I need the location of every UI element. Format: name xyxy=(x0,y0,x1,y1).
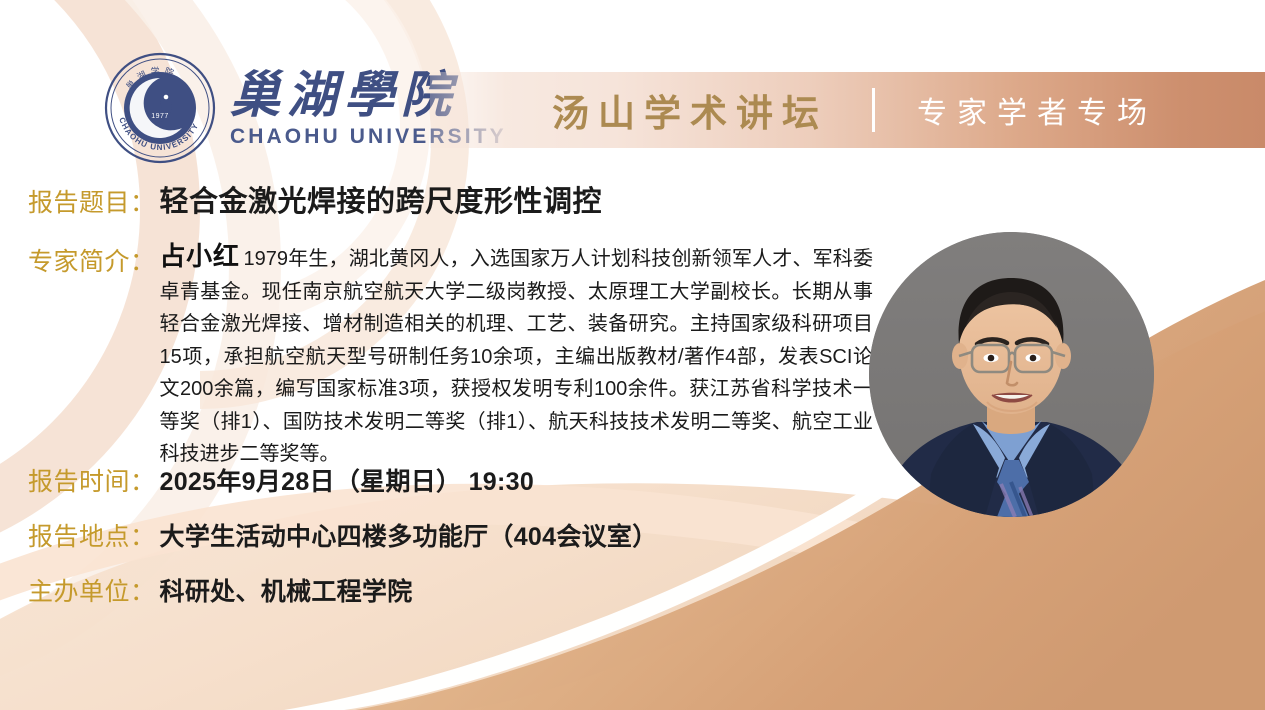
lecture-host-label: 主办单位： xyxy=(28,572,156,608)
speaker-bio-text: 1979年生，湖北黄冈人，入选国家万人计划科技创新领军人才、军科委卓青基金。现任… xyxy=(160,248,873,465)
lecture-host-row: 主办单位： 科研处、机械工程学院 xyxy=(28,572,413,608)
speaker-bio-row: 专家简介： 占小红1979年生，湖北黄冈人，入选国家万人计划科技创新领军人才、军… xyxy=(28,240,873,471)
lecture-title-label: 报告题目： xyxy=(28,183,156,219)
speaker-bio-body: 占小红1979年生，湖北黄冈人，入选国家万人计划科技创新领军人才、军科委卓青基金… xyxy=(160,240,873,471)
lecture-place-value: 大学生活动中心四楼多功能厅（404会议室） xyxy=(160,517,658,553)
lecture-time-value: 2025年9月28日（星期日） 19:30 xyxy=(160,462,535,498)
speaker-bio-label: 专家简介： xyxy=(28,240,156,278)
lecture-place-row: 报告地点： 大学生活动中心四楼多功能厅（404会议室） xyxy=(28,517,658,553)
speaker-name: 占小红 xyxy=(160,241,240,271)
lecture-host-value: 科研处、机械工程学院 xyxy=(160,572,413,608)
speaker-portrait xyxy=(869,232,1154,517)
lecture-title-value: 轻合金激光焊接的跨尺度形性调控 xyxy=(160,178,603,220)
lecture-title-row: 报告题目： 轻合金激光焊接的跨尺度形性调控 xyxy=(28,178,602,220)
lecture-place-label: 报告地点： xyxy=(28,517,156,553)
lecture-time-row: 报告时间： 2025年9月28日（星期日） 19:30 xyxy=(28,462,534,498)
poster-root: 1977 巢湖学院 CHAOHU UNIVERSITY 巢湖學院 CHAOHU … xyxy=(0,0,1265,710)
speaker-portrait-illustration xyxy=(869,232,1154,517)
lecture-time-label: 报告时间： xyxy=(28,462,156,498)
